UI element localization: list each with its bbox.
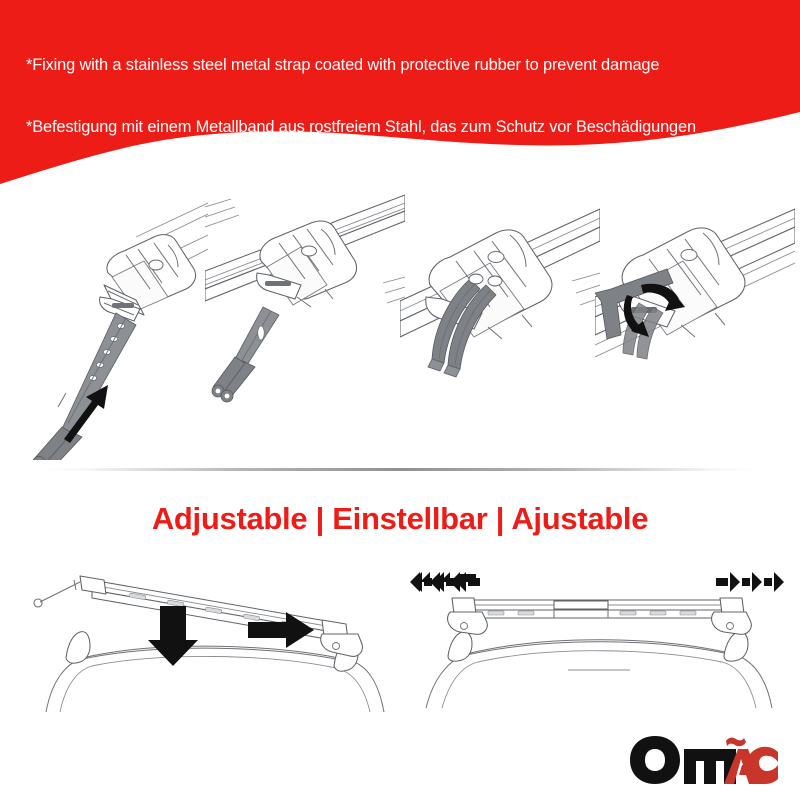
triple-left-arrow xyxy=(410,572,480,592)
step-1-insert-strap-into-foot xyxy=(8,185,208,460)
car-roof-outline xyxy=(46,646,384,712)
roof-rail-left xyxy=(448,632,472,662)
roof-rail-right xyxy=(724,632,748,662)
stainless-steel-strap-part xyxy=(212,307,279,402)
logo-letter-o xyxy=(630,736,680,784)
step-3-strap-wrapped-around-rail xyxy=(400,185,600,460)
car-roof-outline xyxy=(426,640,772,708)
section-divider xyxy=(40,468,760,471)
omac-logo xyxy=(628,732,778,790)
installation-steps-strip xyxy=(0,185,800,460)
triple-right-arrow xyxy=(716,572,784,592)
header-line-en: *Fixing with a stainless steel metal str… xyxy=(26,55,786,76)
logo-letter-c xyxy=(746,747,778,784)
logo-accent-tilde xyxy=(726,738,746,747)
step-4-tighten-with-allen-key xyxy=(595,185,795,460)
header-line-de-1: *Befestigung mit einem Metallband aus ro… xyxy=(26,117,786,138)
cross-bar-part xyxy=(448,598,752,634)
diagram-adjust-crossbar-width xyxy=(408,560,788,720)
adjustable-diagrams-strip xyxy=(0,560,800,720)
diagram-lower-crossbar-onto-roof xyxy=(18,560,398,720)
step-2-foot-on-roof-rail xyxy=(205,185,405,460)
instruction-sheet-page: *Fixing with a stainless steel metal str… xyxy=(0,0,800,800)
stainless-steel-strap-part xyxy=(33,313,137,460)
adjustable-section-title: Adjustable | Einstellbar | Ajustable xyxy=(0,501,800,537)
